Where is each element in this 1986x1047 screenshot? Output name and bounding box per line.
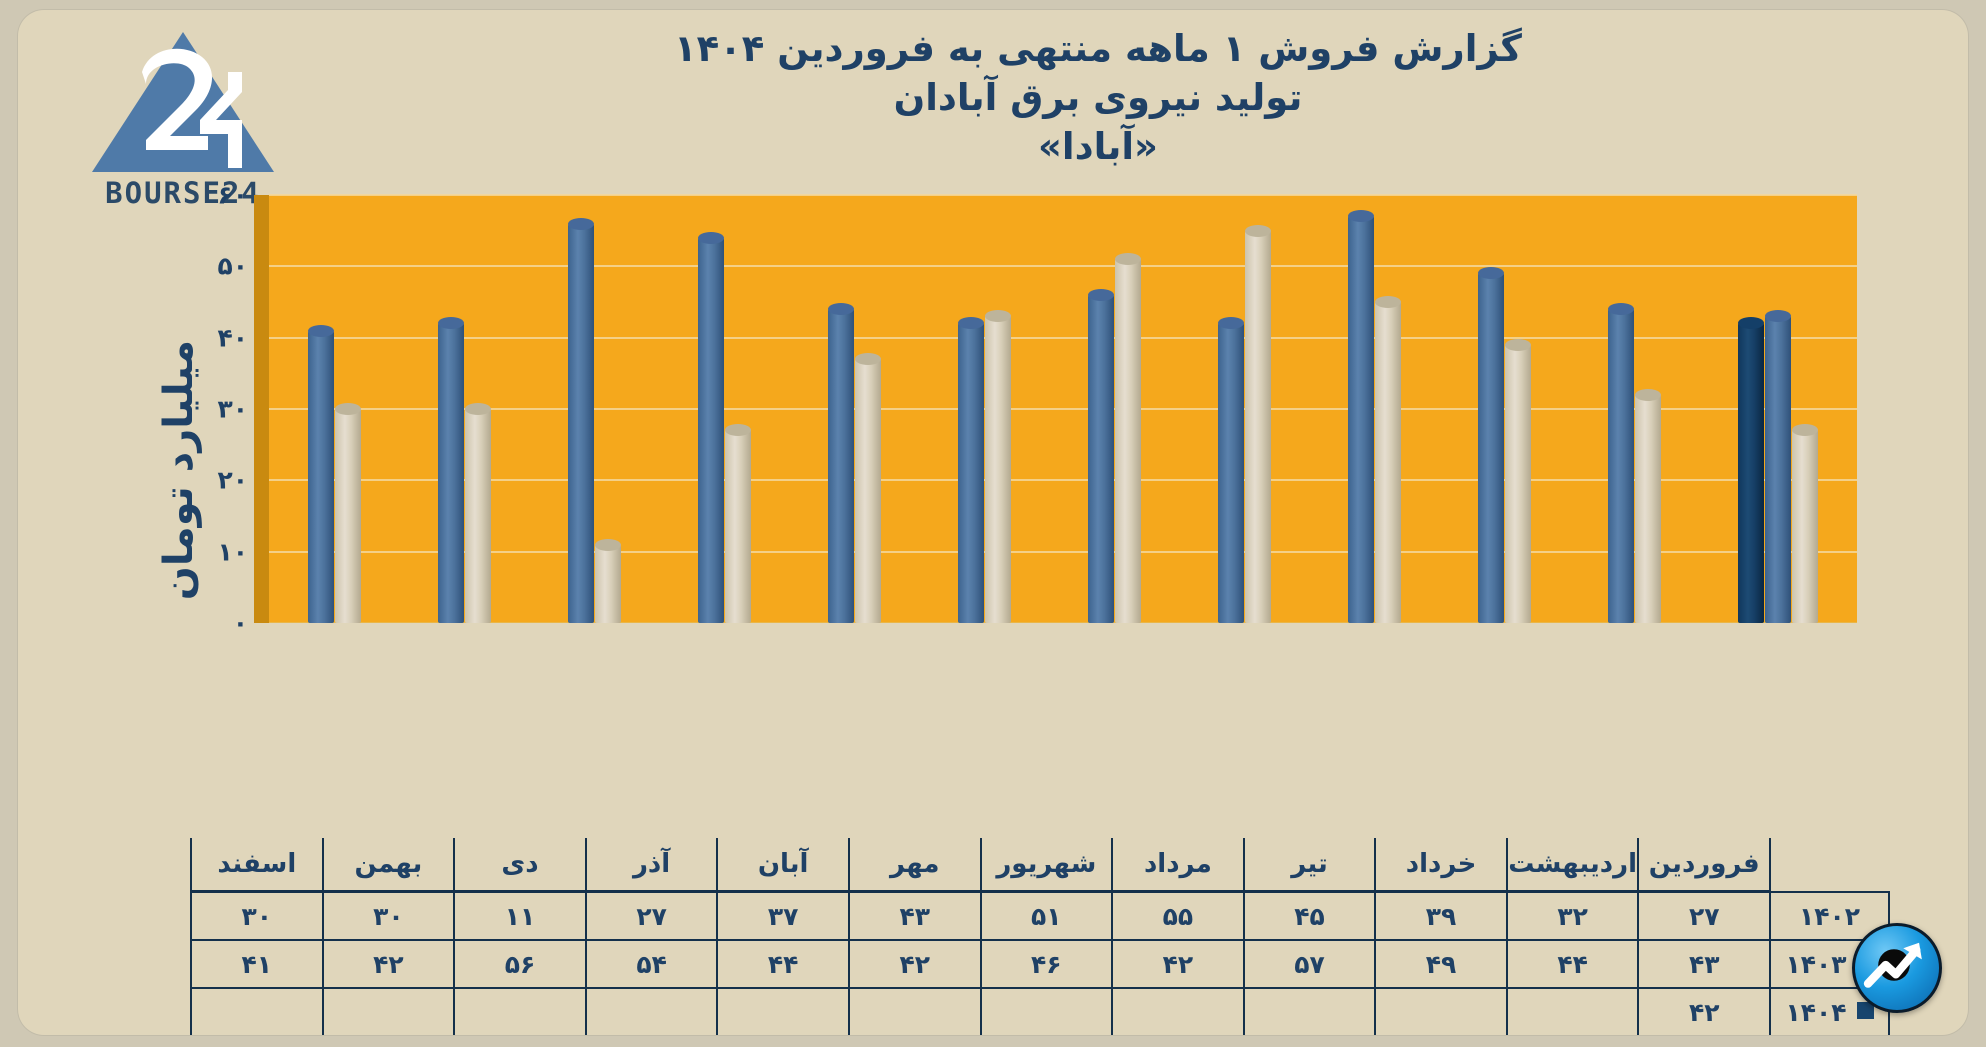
data-table-wrapper: فروردیناردیبهشتخردادتیرمردادشهریورمهرآبا… (190, 838, 1890, 1035)
bar-۱۴۰۳-مهر (958, 323, 984, 623)
brand-logo: BOURSE24 (78, 28, 288, 218)
bar-۱۴۰۳-دی (568, 224, 594, 623)
y-tick-60: ۶۰ (217, 181, 248, 210)
table-cell (1244, 988, 1376, 1035)
bar-۱۴۰۲-شهریور (1115, 259, 1141, 623)
bar-cap (1478, 267, 1504, 279)
table-cell: ۴۶ (981, 940, 1113, 988)
title-line-1: گزارش فروش ۱ ماهه منتهی به فروردین ۱۴۰۴ (318, 24, 1878, 73)
screenshot-root: BOURSE24 گزارش فروش ۱ ماهه منتهی به فرور… (0, 0, 1986, 1047)
bar-cap (1088, 289, 1114, 301)
bar-group-9 (568, 195, 621, 623)
bar-۱۴۰۳-بهمن (438, 323, 464, 623)
y-tick-30: ۳۰ (217, 395, 248, 424)
bar-cap (1765, 310, 1791, 322)
table-cell: ۳۲ (1507, 892, 1639, 941)
bar-cap (698, 232, 724, 244)
legend-label: ۱۴۰۴ (1785, 998, 1846, 1027)
legend-label: ۱۴۰۳ (1785, 950, 1846, 979)
table-header-مهر: مهر (849, 838, 981, 892)
trend-arrow-badge-icon (1852, 923, 1942, 1013)
y-tick-20: ۲۰ (217, 466, 248, 495)
table-cell: ۴۲ (849, 940, 981, 988)
table-cell: ۲۷ (1638, 892, 1770, 941)
bar-group-0 (1738, 195, 1818, 623)
bar-group-4 (1218, 195, 1271, 623)
table-header-شهریور: شهریور (981, 838, 1113, 892)
bar-group-8 (698, 195, 751, 623)
table-header-row: فروردیناردیبهشتخردادتیرمردادشهریورمهرآبا… (191, 838, 1889, 892)
title-line-2: تولید نیروی برق آبادان (318, 73, 1878, 122)
report-card: BOURSE24 گزارش فروش ۱ ماهه منتهی به فرور… (18, 10, 1968, 1035)
table-cell: ۳۰ (191, 892, 323, 941)
bourse24-triangle-logo-icon (88, 28, 278, 176)
table-cell: ۴۴ (1507, 940, 1639, 988)
bar-cap (1375, 296, 1401, 308)
table-header-اسفند: اسفند (191, 838, 323, 892)
bar-۱۴۰۲-خرداد (1505, 345, 1531, 623)
y-tick-0: ۰ (233, 609, 248, 638)
table-cell (1507, 988, 1639, 1035)
table-cell (1112, 988, 1244, 1035)
table-cell: ۴۴ (717, 940, 849, 988)
bar-۱۴۰۲-آبان (855, 359, 881, 623)
bar-cap (1635, 389, 1661, 401)
table-header-اردیبهشت: اردیبهشت (1507, 838, 1639, 892)
bar-cap (1245, 225, 1271, 237)
table-cell: ۴۲ (1112, 940, 1244, 988)
bar-۱۴۰۳-فروردین (1765, 316, 1791, 623)
table-cell: ۴۲ (1638, 988, 1770, 1035)
bar-۱۴۰۲-اردیبهشت (1635, 395, 1661, 623)
table-header-آذر: آذر (586, 838, 718, 892)
bar-cap (335, 403, 361, 415)
bar-group-5 (1088, 195, 1141, 623)
bar-۱۴۰۲-بهمن (465, 409, 491, 623)
table-cell: ۱۱ (454, 892, 586, 941)
table-cell (454, 988, 586, 1035)
bar-۱۴۰۲-اسفند (335, 409, 361, 623)
bar-cap (1115, 253, 1141, 265)
bar-cap (1738, 317, 1764, 329)
bar-۱۴۰۲-مرداد (1245, 231, 1271, 623)
bar-۱۴۰۲-دی (595, 545, 621, 623)
table-cell: ۴۳ (1638, 940, 1770, 988)
plot-left-wall (254, 195, 269, 623)
bar-۱۴۰۲-تیر (1375, 302, 1401, 623)
table-cell: ۲۷ (586, 892, 718, 941)
table-cell: ۴۲ (323, 940, 455, 988)
bar-cap (828, 303, 854, 315)
table-cell (323, 988, 455, 1035)
bar-۱۴۰۲-آذر (725, 430, 751, 623)
table-header-مرداد: مرداد (1112, 838, 1244, 892)
table-row: ۱۴۰۳۴۳۴۴۴۹۵۷۴۲۴۶۴۲۴۴۵۴۵۶۴۲۴۱ (191, 940, 1889, 988)
bar-group-2 (1478, 195, 1531, 623)
y-tick-40: ۴۰ (217, 323, 248, 352)
table-header-فروردین: فروردین (1638, 838, 1770, 892)
table-cell: ۴۵ (1244, 892, 1376, 941)
table-cell (1375, 988, 1507, 1035)
title-line-3: «آبادا» (318, 122, 1878, 171)
table-cell: ۴۹ (1375, 940, 1507, 988)
table-cell: ۵۴ (586, 940, 718, 988)
bar-۱۴۰۲-فروردین (1792, 430, 1818, 623)
bar-cap (725, 424, 751, 436)
bar-۱۴۰۳-آبان (828, 309, 854, 623)
bar-cap (985, 310, 1011, 322)
y-tick-10: ۱۰ (217, 537, 248, 566)
bar-group-7 (828, 195, 881, 623)
table-header-آبان: آبان (717, 838, 849, 892)
table-header-خرداد: خرداد (1375, 838, 1507, 892)
table-cell (849, 988, 981, 1035)
table-header-تیر: تیر (1244, 838, 1376, 892)
bar-cap (1218, 317, 1244, 329)
bar-cap (568, 218, 594, 230)
table-cell: ۳۹ (1375, 892, 1507, 941)
table-row: ۱۴۰۲۲۷۳۲۳۹۴۵۵۵۵۱۴۳۳۷۲۷۱۱۳۰۳۰ (191, 892, 1889, 941)
table-header-بهمن: بهمن (323, 838, 455, 892)
bar-groups (269, 195, 1857, 623)
table-body: ۱۴۰۲۲۷۳۲۳۹۴۵۵۵۵۱۴۳۳۷۲۷۱۱۳۰۳۰۱۴۰۳۴۳۴۴۴۹۵۷… (191, 892, 1889, 1036)
bar-۱۴۰۴-فروردین (1738, 323, 1764, 623)
plot-floor (254, 623, 1857, 636)
table-cell (981, 988, 1113, 1035)
bar-۱۴۰۳-اسفند (308, 331, 334, 623)
y-tick-50: ۵۰ (217, 252, 248, 281)
legend-label: ۱۴۰۲ (1799, 902, 1860, 931)
bar-cap (1505, 339, 1531, 351)
bar-cap (1792, 424, 1818, 436)
bar-۱۴۰۳-آذر (698, 238, 724, 623)
table-corner-cell (1770, 838, 1889, 892)
plot-area (254, 195, 1857, 623)
bar-group-3 (1348, 195, 1401, 623)
table-header-دی: دی (454, 838, 586, 892)
table-cell: ۵۶ (454, 940, 586, 988)
bar-cap (958, 317, 984, 329)
bar-cap (855, 353, 881, 365)
table-cell: ۵۷ (1244, 940, 1376, 988)
table-cell (191, 988, 323, 1035)
bar-chart: میلیارد تومان ۰۱۰۲۰۳۰۴۰۵۰۶۰ (168, 195, 1868, 835)
bar-cap (1608, 303, 1634, 315)
bar-cap (1348, 210, 1374, 222)
bar-group-6 (958, 195, 1011, 623)
bar-۱۴۰۳-خرداد (1478, 273, 1504, 623)
bar-۱۴۰۳-مرداد (1218, 323, 1244, 623)
y-axis-ticks: ۰۱۰۲۰۳۰۴۰۵۰۶۰ (168, 195, 254, 637)
table-cell (717, 988, 849, 1035)
bar-cap (308, 325, 334, 337)
table-cell: ۴۱ (191, 940, 323, 988)
table-row: ۱۴۰۴۴۲ (191, 988, 1889, 1035)
table-cell (586, 988, 718, 1035)
bar-group-1 (1608, 195, 1661, 623)
table-cell: ۴۳ (849, 892, 981, 941)
table-cell: ۳۰ (323, 892, 455, 941)
bar-cap (465, 403, 491, 415)
bar-group-10 (438, 195, 491, 623)
bar-۱۴۰۲-مهر (985, 316, 1011, 623)
bar-۱۴۰۳-تیر (1348, 216, 1374, 623)
data-table: فروردیناردیبهشتخردادتیرمردادشهریورمهرآبا… (190, 838, 1890, 1035)
table-cell: ۵۵ (1112, 892, 1244, 941)
bar-group-11 (308, 195, 361, 623)
bar-۱۴۰۳-اردیبهشت (1608, 309, 1634, 623)
bar-۱۴۰۳-شهریور (1088, 295, 1114, 623)
page-title: گزارش فروش ۱ ماهه منتهی به فروردین ۱۴۰۴ … (318, 24, 1878, 172)
bar-cap (438, 317, 464, 329)
table-cell: ۵۱ (981, 892, 1113, 941)
bar-cap (595, 539, 621, 551)
table-cell: ۳۷ (717, 892, 849, 941)
